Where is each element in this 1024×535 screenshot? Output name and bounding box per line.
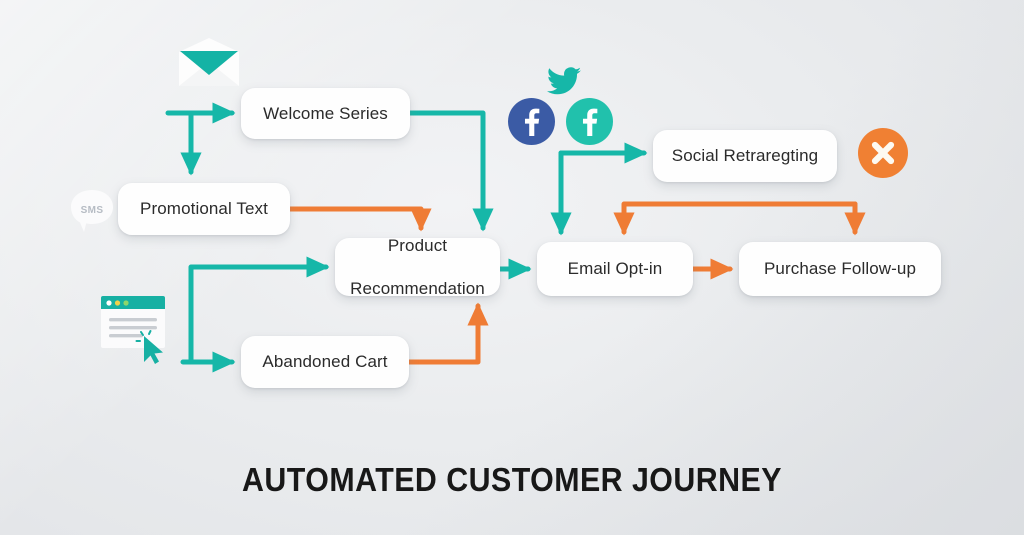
close-circle-icon[interactable] (858, 128, 908, 178)
node-label: Social Retraregting (672, 145, 818, 166)
sms-bubble-icon: SMS (68, 186, 116, 234)
browser-window-cursor-icon (99, 294, 175, 366)
journey-diagram-canvas: SMS (0, 0, 1024, 535)
node-label: Product Recommendation (350, 235, 485, 299)
node-label: Welcome Series (263, 103, 388, 124)
node-social-retargeting[interactable]: Social Retraregting (653, 130, 837, 182)
node-label: Email Opt-in (568, 258, 663, 279)
node-abandoned-cart[interactable]: Abandoned Cart (241, 336, 409, 388)
diagram-title: AUTOMATED CUSTOMER JOURNEY (41, 461, 983, 499)
wire-abandoned-to-product (409, 306, 478, 362)
node-label-line2: Recommendation (350, 278, 485, 299)
wire-loop-to-purchase (700, 204, 855, 232)
node-label-line1: Product (350, 235, 485, 256)
facebook-icon[interactable] (566, 98, 613, 145)
node-label: Promotional Text (140, 198, 268, 219)
node-label: Abandoned Cart (262, 351, 387, 372)
wire-social-to-retargeting (561, 153, 644, 175)
wire-browser-to-abandoned (191, 290, 232, 362)
node-purchase-follow-up[interactable]: Purchase Follow-up (739, 242, 941, 296)
node-product-recommendation[interactable]: Product Recommendation (335, 238, 500, 296)
node-label: Purchase Follow-up (764, 258, 916, 279)
twitter-bird-icon[interactable] (547, 67, 581, 95)
wire-loop-to-email (624, 204, 855, 232)
sms-label: SMS (81, 205, 104, 216)
node-email-opt-in[interactable]: Email Opt-in (537, 242, 693, 296)
node-welcome-series[interactable]: Welcome Series (241, 88, 410, 139)
wire-envelope-to-promotional (175, 113, 191, 172)
facebook-icon[interactable] (508, 98, 555, 145)
wire-promotional-to-product (290, 209, 421, 228)
email-envelope-icon (176, 38, 242, 88)
node-promotional-text[interactable]: Promotional Text (118, 183, 290, 235)
